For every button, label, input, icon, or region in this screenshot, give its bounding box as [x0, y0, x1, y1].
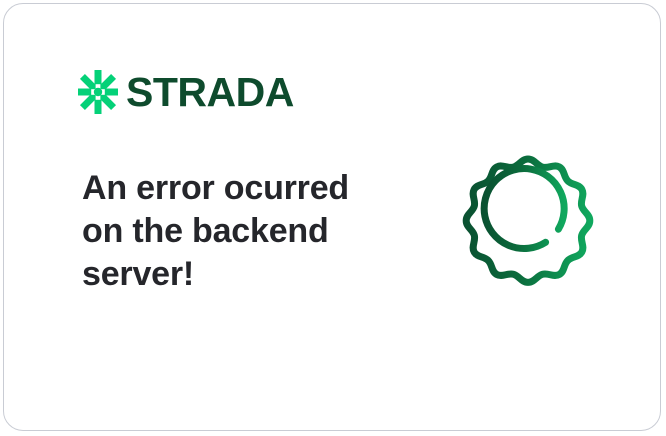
gear-cog-icon [448, 142, 608, 302]
error-card: STRADA An error ocurred on the backend s… [3, 3, 661, 431]
error-message: An error ocurred on the backend server! [82, 167, 372, 296]
brand-lockup: STRADA [78, 70, 294, 114]
strada-asterisk-icon [78, 70, 118, 114]
brand-wordmark: STRADA [126, 72, 294, 113]
